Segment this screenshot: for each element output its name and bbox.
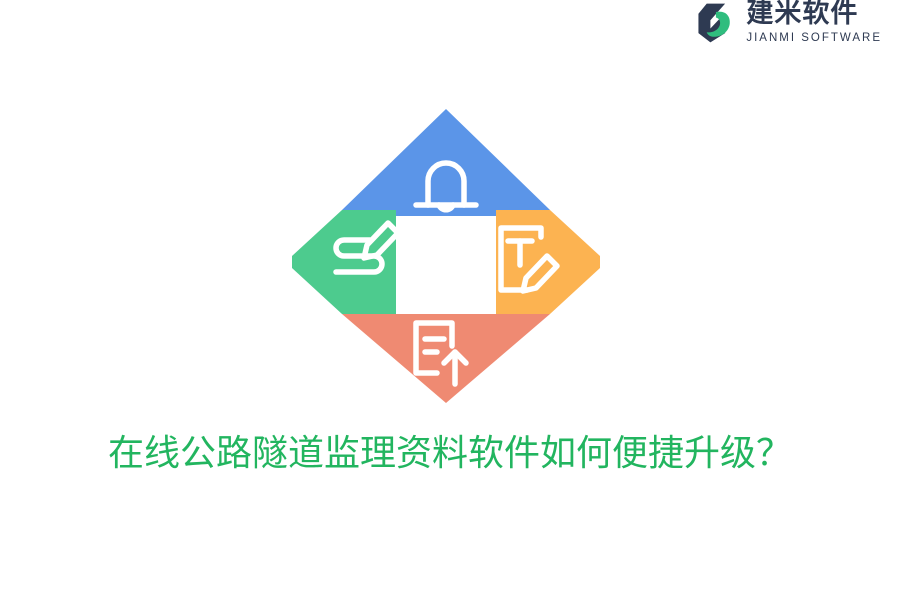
brand-logo: 建米软件 JIANMI SOFTWARE xyxy=(692,0,882,48)
page-title: 在线公路隧道监理资料软件如何便捷升级？ xyxy=(0,430,900,478)
diamond-quadrant-right xyxy=(496,210,600,314)
hero-diamond-graphic xyxy=(292,109,600,403)
diamond-center-square xyxy=(396,216,496,314)
brand-text: 建米软件 JIANMI SOFTWARE xyxy=(746,0,882,45)
diamond-svg xyxy=(292,109,600,403)
jianmi-logo-icon xyxy=(692,0,738,46)
diamond-quadrant-left xyxy=(292,210,398,314)
diamond-quadrant-top xyxy=(342,109,550,216)
brand-name-en: JIANMI SOFTWARE xyxy=(746,31,882,45)
diamond-quadrant-bottom xyxy=(342,314,550,403)
brand-name-cn: 建米软件 xyxy=(746,0,882,28)
